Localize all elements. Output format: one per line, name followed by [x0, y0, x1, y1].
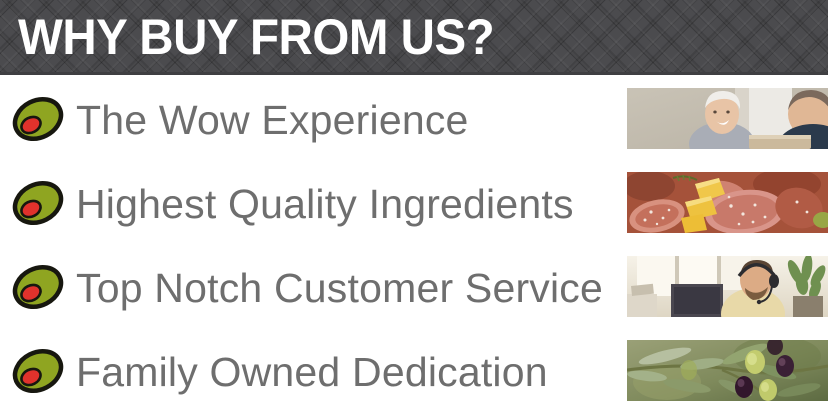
benefit-label: Family Owned Dedication [76, 330, 548, 414]
benefit-thumbnail-salami-cheese [627, 172, 828, 233]
page-title: WHY BUY FROM US? [18, 6, 494, 68]
page-header: WHY BUY FROM US? [0, 0, 828, 75]
olive-icon [11, 176, 65, 230]
benefit-list: The Wow Experience [0, 78, 828, 414]
benefit-thumbnail-customer-greeting [627, 88, 828, 149]
benefit-thumbnail-olive-branch [627, 340, 828, 401]
olive-icon [11, 344, 65, 398]
benefit-label: Highest Quality Ingredients [76, 162, 574, 246]
why-buy-from-us-page: WHY BUY FROM US? The Wow Experience [0, 0, 828, 414]
olive-icon [11, 260, 65, 314]
olive-icon [11, 92, 65, 146]
list-item: Highest Quality Ingredients [0, 162, 828, 246]
benefit-label: Top Notch Customer Service [76, 246, 603, 330]
list-item: Family Owned Dedication [0, 330, 828, 414]
benefit-thumbnail-support-agent [627, 256, 828, 317]
list-item: The Wow Experience [0, 78, 828, 162]
benefit-label: The Wow Experience [76, 78, 469, 162]
list-item: Top Notch Customer Service [0, 246, 828, 330]
